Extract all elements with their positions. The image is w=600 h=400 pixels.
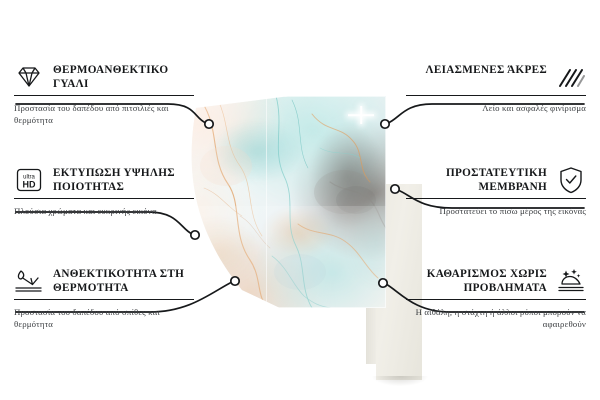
feature-description: Προστατεύει το πίσω μέρος της εικόνας — [406, 205, 586, 217]
feature-title: ΚΑΘΑΡΙΣΜΟΣ ΧΩΡΙΣ ΠΡΟΒΛΗΜΑΤΑ — [406, 266, 547, 296]
feature-divider — [406, 198, 586, 199]
feature-description: Προστασία του δαπέδου από πιτσιλιές και … — [14, 102, 194, 126]
ultra-hd-icon: ultra HD — [14, 165, 44, 195]
feature-description: Προστασία του δαπέδου από σπίθες και θερ… — [14, 306, 194, 330]
glass-panel-front — [180, 96, 386, 308]
shield-check-icon — [556, 165, 586, 195]
feature-right-2: ΠΡΟΣΤΑΤΕΥΤΙΚΗ ΜΕΜΒΡΑΝΗ Προστατεύει το πί… — [406, 165, 586, 217]
feature-left-3: ΑΝΘΕΚΤΙΚΟΤΗΤΑ ΣΤΗ ΘΕΡΜΟΤΗΤΑ Προστασία το… — [14, 266, 194, 330]
panel-shadow — [372, 376, 428, 386]
feature-title: ΑΝΘΕΚΤΙΚΟΤΗΤΑ ΣΤΗ ΘΕΡΜΟΤΗΤΑ — [53, 266, 194, 296]
feature-header: ΑΝΘΕΚΤΙΚΟΤΗΤΑ ΣΤΗ ΘΕΡΜΟΤΗΤΑ — [14, 266, 194, 296]
feature-right-1: ΛΕΙΑΣΜΕΝΕΣ ΆΚΡΕΣ Λείο και ασφαλές φινίρι… — [406, 62, 586, 114]
feature-divider — [14, 95, 194, 96]
feature-header: ΘΕΡΜΟΑΝΘΕΚΤΙΚΟ ΓΥΑΛΙ — [14, 62, 194, 92]
feature-description: Η αιθάλη, η στάχτη ή άλλοι ρύποι μπορούν… — [406, 306, 586, 330]
feature-divider — [406, 299, 586, 300]
infographic-stage: ΘΕΡΜΟΑΝΘΕΚΤΙΚΟ ΓΥΑΛΙ Προστασία του δαπέδ… — [0, 0, 600, 400]
feature-left-1: ΘΕΡΜΟΑΝΘΕΚΤΙΚΟ ΓΥΑΛΙ Προστασία του δαπέδ… — [14, 62, 194, 126]
feature-divider — [14, 299, 194, 300]
feature-description: Πλούσια χρώματα και ευκρινής εικόνα — [14, 205, 194, 217]
diamond-icon — [14, 62, 44, 92]
feature-title: ΕΚΤΥΠΩΣΗ ΥΨΗΛΗΣ ΠΟΙΟΤΗΤΑΣ — [53, 165, 194, 195]
product-image — [180, 88, 420, 320]
svg-text:HD: HD — [23, 180, 36, 190]
flame-heat-resistance-icon — [14, 266, 44, 296]
feature-title: ΛΕΙΑΣΜΕΝΕΣ ΆΚΡΕΣ — [426, 62, 547, 77]
feature-header: ΛΕΙΑΣΜΕΝΕΣ ΆΚΡΕΣ — [406, 62, 586, 92]
feature-right-3: ΚΑΘΑΡΙΣΜΟΣ ΧΩΡΙΣ ΠΡΟΒΛΗΜΑΤΑ Η αιθάλη, η … — [406, 266, 586, 330]
feature-divider — [406, 95, 586, 96]
polished-edges-icon — [556, 62, 586, 92]
feature-title: ΠΡΟΣΤΑΤΕΥΤΙΚΗ ΜΕΜΒΡΑΝΗ — [406, 165, 547, 195]
feature-divider — [14, 198, 194, 199]
feature-header: ΠΡΟΣΤΑΤΕΥΤΙΚΗ ΜΕΜΒΡΑΝΗ — [406, 165, 586, 195]
glass-sheen — [180, 96, 386, 308]
feature-description: Λείο και ασφαλές φινίρισμα — [406, 102, 586, 114]
feature-header: ΚΑΘΑΡΙΣΜΟΣ ΧΩΡΙΣ ΠΡΟΒΛΗΜΑΤΑ — [406, 266, 586, 296]
glass-artwork — [180, 96, 386, 308]
sponge-sparkle-icon — [556, 266, 586, 296]
feature-title: ΘΕΡΜΟΑΝΘΕΚΤΙΚΟ ΓΥΑΛΙ — [53, 62, 194, 92]
feature-header: ultra HD ΕΚΤΥΠΩΣΗ ΥΨΗΛΗΣ ΠΟΙΟΤΗΤΑΣ — [14, 165, 194, 195]
glass-fold-line — [266, 96, 267, 308]
feature-left-2: ultra HD ΕΚΤΥΠΩΣΗ ΥΨΗΛΗΣ ΠΟΙΟΤΗΤΑΣ Πλούσ… — [14, 165, 194, 217]
